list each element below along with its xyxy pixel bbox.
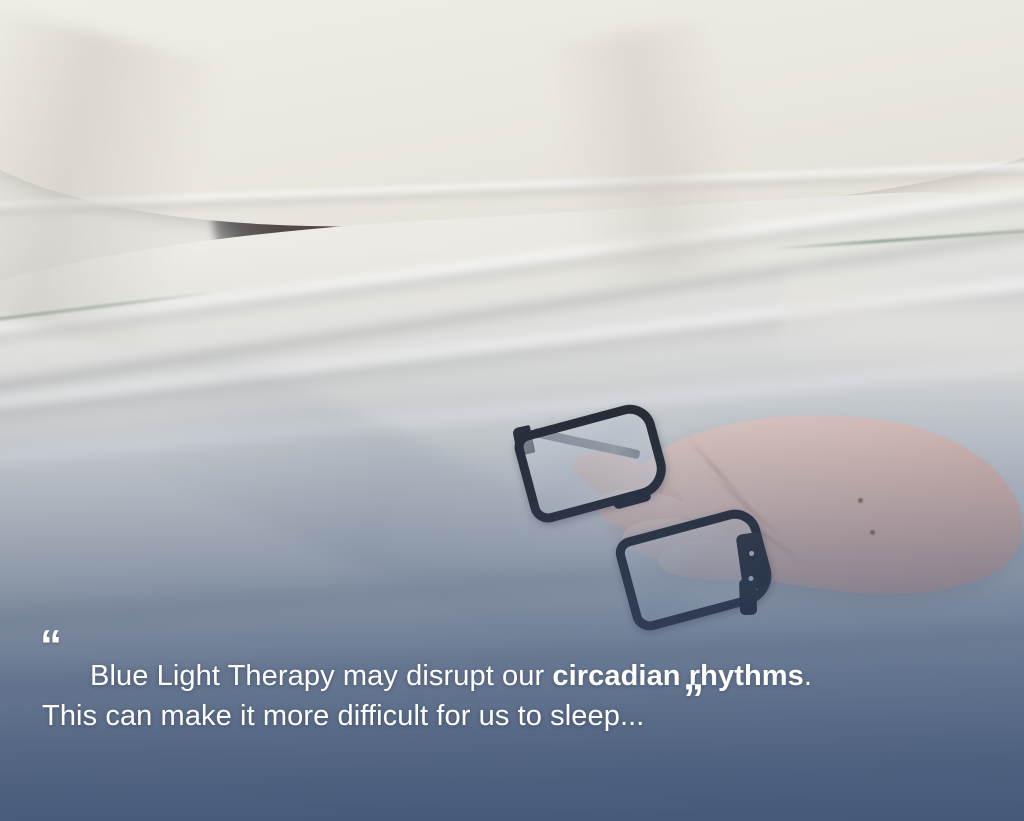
closing-quotation-mark: ” (683, 678, 705, 720)
quote-text-block: Blue Light Therapy may disrupt our circa… (0, 628, 1024, 748)
quote-emphasis-circadian-rhythms: circadian rhythms (552, 660, 804, 692)
quote-line-1-suffix: . (804, 660, 812, 692)
skin-mark (870, 530, 875, 535)
glasses-lens-left (511, 399, 672, 527)
skin-mark (858, 498, 863, 503)
quote-line-1-prefix: Blue Light Therapy may disrupt our (90, 660, 552, 692)
eyeglasses (497, 386, 838, 638)
glasses-screw (550, 416, 555, 421)
quote-card: “ Blue Light Therapy may disrupt our cir… (0, 0, 1024, 821)
quote-line-2: This can make it more difficult for us t… (42, 696, 644, 736)
glasses-temple-tip (739, 579, 757, 616)
